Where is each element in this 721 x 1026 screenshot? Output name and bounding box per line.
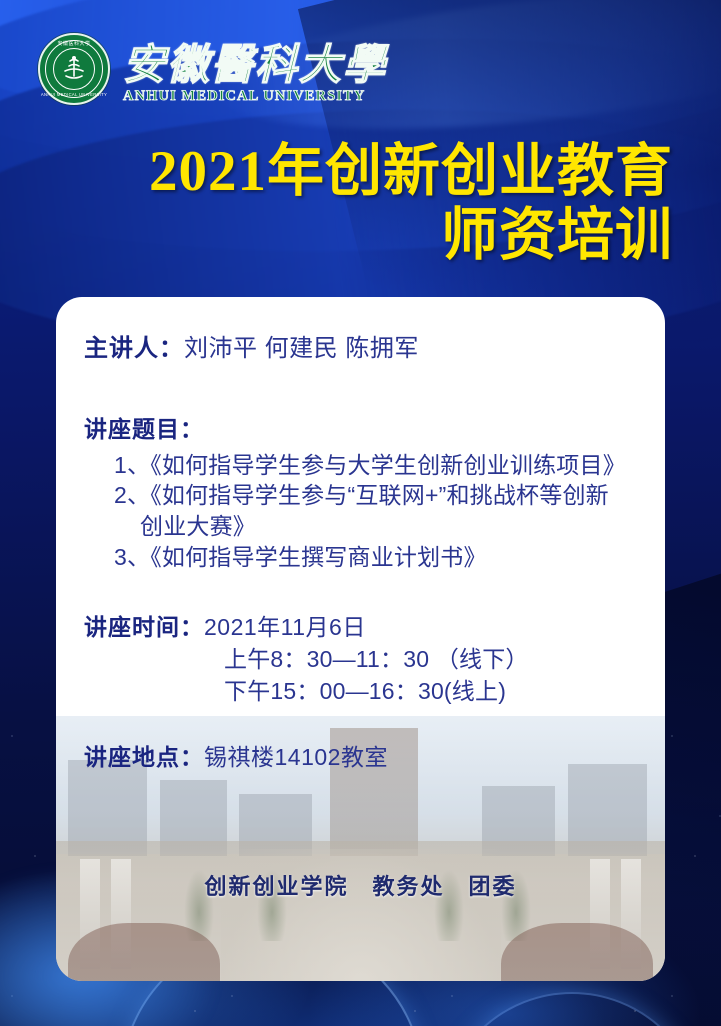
topic-item-1: 1、《如何指导学生参与大学生创新创业训练项目》 [84, 450, 639, 481]
emblem-inner-disc [53, 48, 95, 90]
topic-item-2: 2、《如何指导学生参与“互联网+”和挑战杯等创新 创业大赛》 [84, 480, 639, 541]
time-afternoon: 下午15：00—16：30(线上) [84, 675, 639, 707]
time-label: 讲座时间： [84, 614, 204, 640]
speaker-value: 刘沛平 何建民 陈拥军 [184, 335, 419, 362]
title-line-1: 2021年创新创业教育 [0, 140, 673, 204]
university-wordmark: 安徽醫科大學 ANHUI MEDICAL UNIVERSITY [123, 45, 387, 106]
time-date-value: 2021年11月6日 [204, 614, 366, 640]
wordmark-english: ANHUI MEDICAL UNIVERSITY [123, 89, 387, 104]
topic-2-continuation: 创业大赛》 [114, 511, 639, 542]
topic-1-text: 1、《如何指导学生参与大学生创新创业训练项目》 [114, 452, 626, 478]
emblem-arc-bottom-text: ANHUI MEDICAL UNIVERSITY [40, 93, 108, 97]
topic-2-text: 2、《如何指导学生参与“互联网+”和挑战杯等创新 [114, 482, 609, 508]
speaker-label: 主讲人： [84, 335, 184, 362]
topics-label: 讲座题目： [84, 410, 639, 444]
topics-section: 讲座题目： 1、《如何指导学生参与大学生创新创业训练项目》 2、《如何指导学生参… [84, 410, 639, 572]
wordmark-chinese: 安徽醫科大學 [123, 45, 387, 87]
time-first-line: 讲座时间：2021年11月6日 [84, 612, 639, 643]
content-card: 主讲人：刘沛平 何建民 陈拥军 讲座题目： 1、《如何指导学生参与大学生创新创业… [56, 297, 665, 981]
poster-title: 2021年创新创业教育 师资培训 [0, 140, 673, 269]
topic-item-3: 3、《如何指导学生撰写商业计划书》 [84, 542, 639, 573]
emblem-arc-top-text: 安徽医科大学 [40, 42, 108, 47]
poster-root: 安徽医科大学 ANHUI MEDICAL UNIVERSITY 安徽醫科大學 A… [0, 0, 721, 1026]
speaker-row: 主讲人：刘沛平 何建民 陈拥军 [84, 335, 639, 364]
university-emblem-icon: 安徽医科大学 ANHUI MEDICAL UNIVERSITY [38, 33, 110, 105]
place-value: 锡祺楼14102教室 [204, 744, 388, 770]
topic-3-text: 3、《如何指导学生撰写商业计划书》 [114, 544, 487, 570]
time-morning: 上午8：30—11：30 （线下） [84, 643, 639, 675]
title-line-2: 师资培训 [0, 204, 673, 268]
university-logo: 安徽医科大学 ANHUI MEDICAL UNIVERSITY 安徽醫科大學 A… [38, 33, 387, 105]
organizers-footer: 创新创业学院 教务处 团委 [56, 869, 665, 901]
place-section: 讲座地点：锡祺楼14102教室 [84, 744, 639, 772]
time-section: 讲座时间：2021年11月6日 上午8：30—11：30 （线下） 下午15：0… [84, 612, 639, 707]
place-label: 讲座地点： [84, 744, 204, 770]
